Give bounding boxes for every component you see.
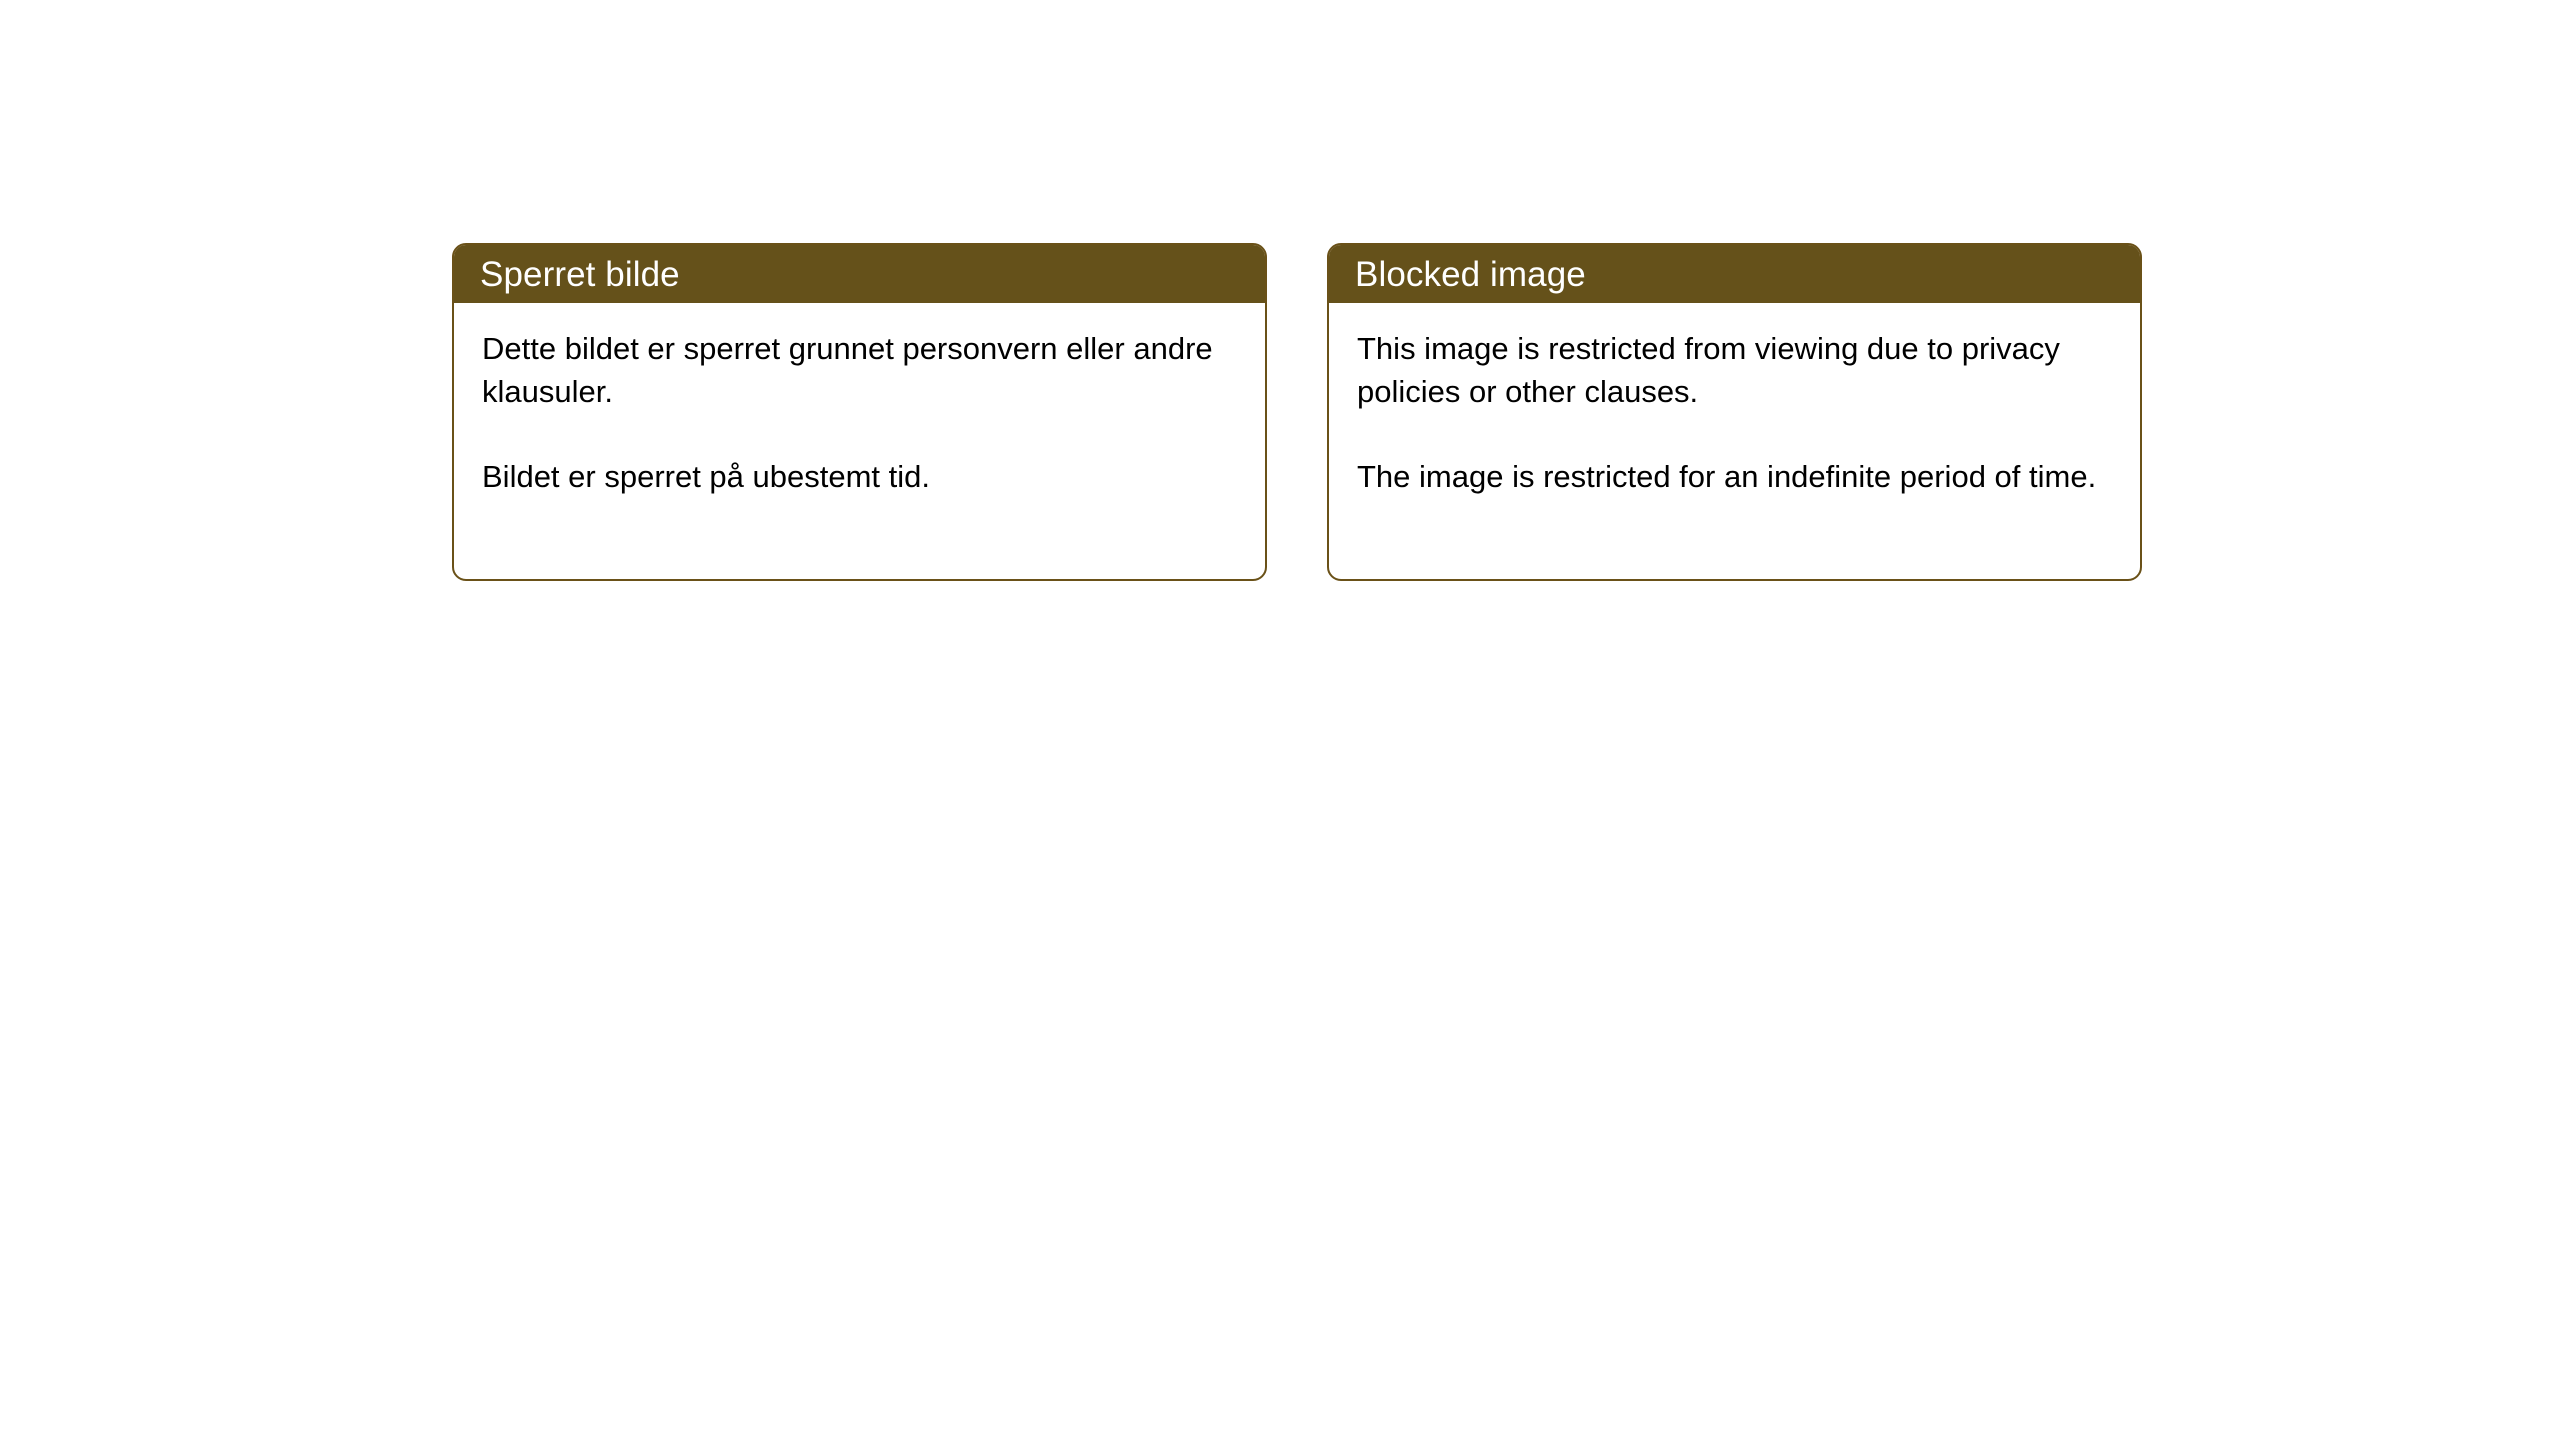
card-title-norwegian: Sperret bilde	[480, 257, 680, 292]
card-header-norwegian: Sperret bilde	[454, 245, 1265, 303]
blocked-image-card-norwegian: Sperret bilde Dette bildet er sperret gr…	[452, 243, 1267, 581]
card-body-norwegian: Dette bildet er sperret grunnet personve…	[454, 303, 1265, 579]
card-title-english: Blocked image	[1355, 257, 1586, 292]
card-paragraph-secondary-norwegian: Bildet er sperret på ubestemt tid.	[482, 455, 1239, 498]
card-body-english: This image is restricted from viewing du…	[1329, 303, 2140, 579]
blocked-image-notice-group: Sperret bilde Dette bildet er sperret gr…	[452, 243, 2142, 581]
card-header-english: Blocked image	[1329, 245, 2140, 303]
card-paragraph-primary-norwegian: Dette bildet er sperret grunnet personve…	[482, 327, 1239, 413]
blocked-image-card-english: Blocked image This image is restricted f…	[1327, 243, 2142, 581]
card-paragraph-secondary-english: The image is restricted for an indefinit…	[1357, 455, 2114, 498]
card-paragraph-primary-english: This image is restricted from viewing du…	[1357, 327, 2114, 413]
